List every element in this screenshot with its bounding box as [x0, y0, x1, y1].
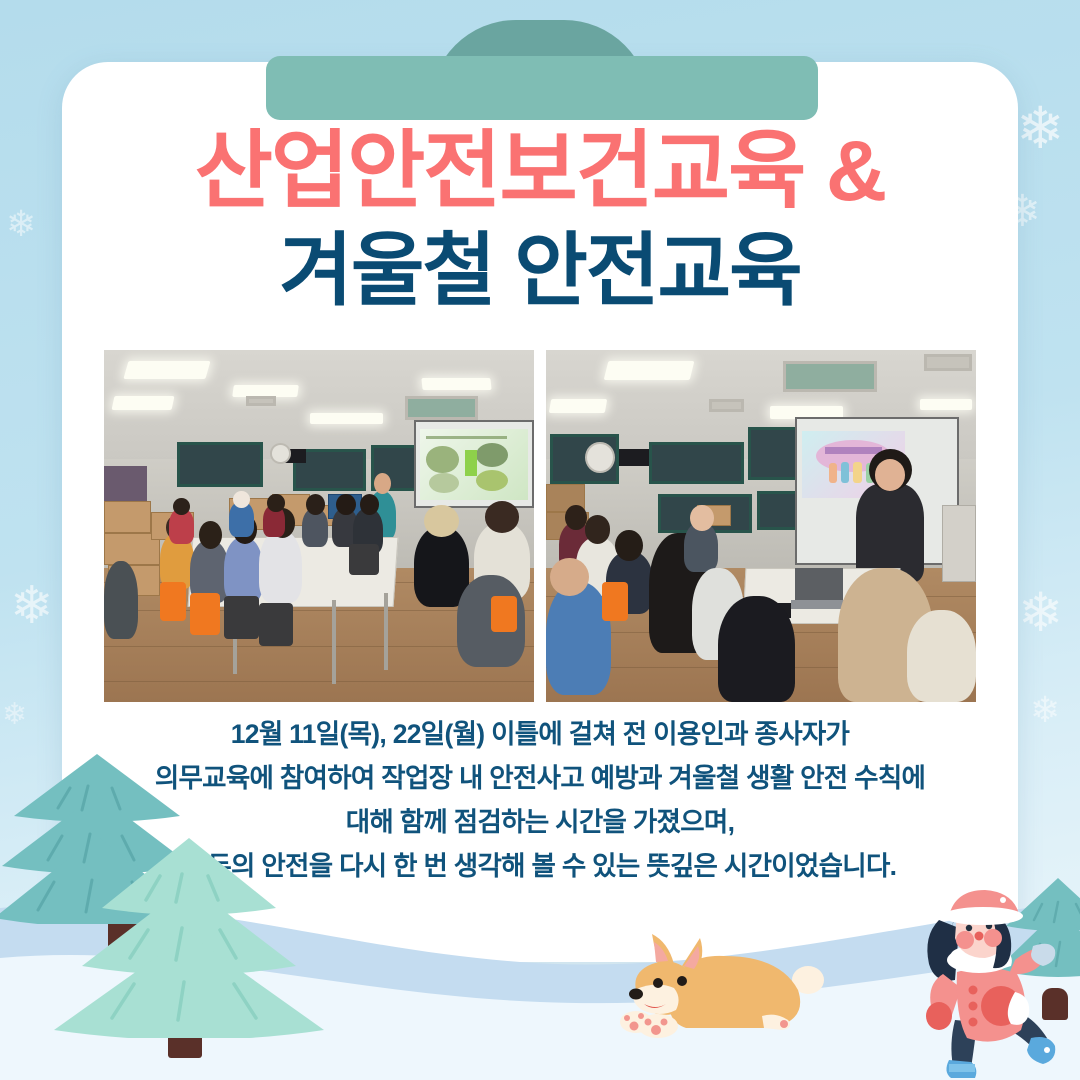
- snowflake-right-mid: ❄: [1018, 586, 1063, 640]
- header-tab-bar: [266, 56, 818, 120]
- body-line-2: 의무교육에 참여하여 작업장 내 안전사고 예방과 겨울철 생활 안전 수칙에: [60, 756, 1020, 800]
- poster-canvas: ❄ ❄ ❄ ❄ ❄ ❄ ❄ 산업안전보건교육 & 겨울철 안전교육: [0, 0, 1080, 1080]
- photo-left-classroom: [104, 350, 534, 702]
- snowflake-left-mid: ❄: [10, 580, 54, 632]
- photo-gallery: [104, 350, 976, 702]
- winter-girl-character: [905, 888, 1080, 1080]
- body-line-1: 12월 11일(목), 22일(월) 이틀에 걸쳐 전 이용인과 종사자가: [60, 712, 1020, 756]
- photo-right-classroom: [546, 350, 976, 702]
- page-title-line2: 겨울철 안전교육: [0, 224, 1080, 318]
- snowflake-left-low: ❄: [2, 700, 27, 730]
- pine-tree-light-left: [48, 838, 330, 1038]
- corgi-dog: [612, 928, 832, 1048]
- page-title-line1: 산업안전보건교육 &: [0, 124, 1080, 220]
- poster-title-block: 산업안전보건교육 & 겨울철 안전교육: [0, 124, 1080, 318]
- snowflake-right-low: ❄: [1030, 692, 1060, 728]
